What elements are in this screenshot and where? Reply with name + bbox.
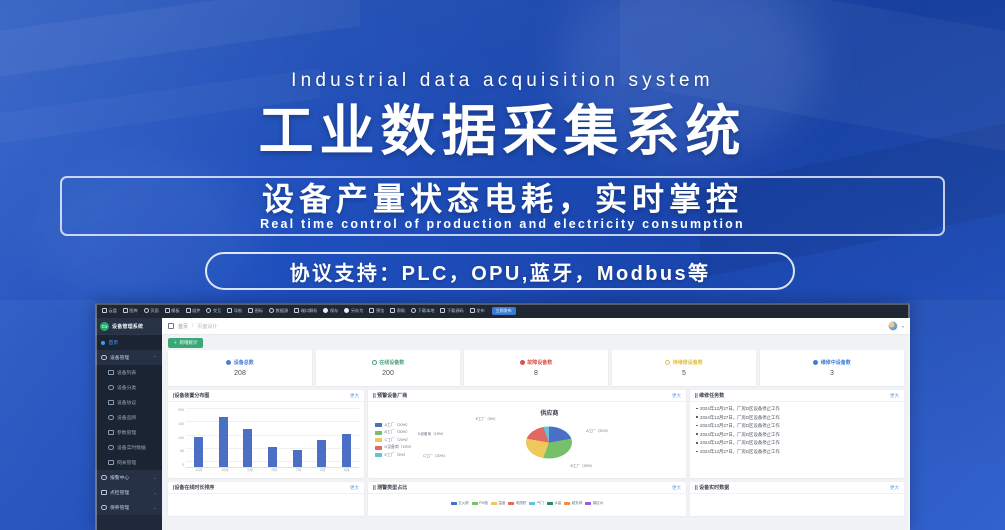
app-toolbar: 云盘图库页面模板组件交互导航图标数据源端口解析保存另存为预览帮助下载本地下载源码…: [95, 303, 910, 318]
sidebar-logo-label: 设备管理系统: [112, 323, 143, 330]
sidebar-item-1[interactable]: 设备管理⌃: [95, 350, 162, 365]
alarm-legend-item-2[interactable]: 温度: [491, 501, 506, 506]
realtime-icon: [108, 445, 114, 451]
toolbar-item-label: 下载本地: [418, 308, 435, 314]
toolbar-item-label: 图标: [255, 308, 263, 314]
sidebar-item-7[interactable]: 设备实时数据: [95, 440, 162, 455]
plus-icon: ＋: [173, 340, 178, 346]
content-area: 首页 / 页面设计 ▾ ＋ 新增统计 设备总数208在: [162, 318, 910, 530]
stat-card-label: 故障设备数: [527, 359, 552, 366]
toolbar-item-label: 帮助: [397, 308, 405, 314]
legend-label: 气门: [537, 501, 544, 506]
preview-icon: [369, 308, 374, 313]
stat-card-value: 200: [382, 370, 394, 377]
list-item[interactable]: 2024年12月27日，厂房D区设备停止工作: [700, 449, 899, 455]
alarm-legend-item-7[interactable]: 摄区水: [585, 501, 603, 506]
alarm-legend-item-3[interactable]: 电限积: [508, 501, 526, 506]
toolbar-item-11[interactable]: 另存为: [341, 308, 366, 314]
breadcrumb-bar: 首页 / 页面设计 ▾: [162, 318, 910, 335]
bar-chart-x-tick: 11月: [195, 468, 202, 473]
panel-title: || 预警设备厂商: [373, 392, 407, 399]
template-icon: [165, 308, 170, 313]
bar-chart-x-tick: 8月: [272, 468, 278, 473]
alarm-legend-item-1[interactable]: PM值: [472, 501, 488, 506]
panel-online-duration: |设备在线时长排序 更大: [168, 482, 364, 516]
subtitle-chinese: 设备产量状态电耗，实时掌控: [62, 180, 943, 219]
logo-mark-icon: Cv: [100, 322, 109, 331]
legend-label: B工厂（30%）: [385, 430, 410, 435]
toolbar-item-0[interactable]: 云盘: [99, 308, 120, 314]
panel-row-top: |设备装置分布图 更大 200150100500: [168, 390, 904, 478]
breadcrumb-current: 页面设计: [197, 323, 217, 330]
sidebar-logo: Cv 设备管理系统: [95, 318, 162, 335]
legend-label: 水量: [554, 501, 561, 506]
sidebar-item-9[interactable]: 报警中心⌄: [95, 470, 162, 485]
sidebar-item-10[interactable]: 点检管理⌄: [95, 485, 162, 500]
stat-card-1[interactable]: 在线设备数200: [316, 350, 460, 386]
bar-chart-x-tick: 9月: [247, 468, 253, 473]
bar-chart: 200150100500 11月10月9月8月7月4月5月: [173, 406, 359, 474]
bar-chart-x-tick: 10月: [221, 468, 229, 473]
sidebar-item-4[interactable]: 设备协议: [95, 395, 162, 410]
legend-swatch: [375, 438, 382, 442]
code-icon: [440, 308, 445, 313]
sidebar-item-6[interactable]: 参数管理: [95, 425, 162, 440]
toolbar-item-label: 交互: [213, 308, 221, 314]
legend-label: 温度: [498, 501, 505, 506]
toolbar-item-5[interactable]: 交互: [203, 308, 224, 314]
sidebar-item-label: 参数管理: [117, 429, 136, 436]
stat-card-header: 故障设备数: [520, 359, 553, 366]
panel-body: [690, 494, 904, 516]
panel-body: [168, 494, 364, 516]
inspect-icon: [101, 490, 107, 496]
stat-card-label: 待维修设备数: [673, 359, 703, 366]
breadcrumb-separator: /: [192, 323, 193, 329]
toolbar-item-15[interactable]: 下载源码: [437, 308, 466, 314]
bar-chart-plot: 11月10月9月8月7月4月5月: [186, 406, 359, 474]
database-icon: [269, 308, 274, 313]
toolbar-item-label: 另存为: [351, 308, 364, 314]
interaction-icon: [206, 308, 211, 313]
sidebar-item-3[interactable]: 设备分类: [95, 380, 162, 395]
sidebar-item-5[interactable]: 设备品牌: [95, 410, 162, 425]
breadcrumb-home[interactable]: 首页: [178, 323, 188, 330]
app-body: Cv 设备管理系统 首页设备管理⌃设备列表设备分类设备协议设备品牌参数管理设备实…: [95, 318, 910, 530]
legend-swatch: [564, 502, 570, 505]
sidebar-item-label: 网关管理: [117, 459, 136, 466]
sidebar-item-label: 设备列表: [117, 369, 136, 376]
legend-label: D设备商（15%）: [385, 445, 414, 450]
chevron-icon: ⌃: [154, 355, 157, 360]
toolbar-item-label: 云盘: [109, 308, 117, 314]
sidebar-item-label: 点检管理: [110, 489, 129, 496]
toolbar-item-label: 图库: [129, 308, 137, 314]
panel-row-bottom: |设备在线时长排序 更大 || 测警类型占比 更大 交火报PM值温度: [168, 482, 904, 516]
dashboard-scroll[interactable]: 设备总数208在线设备数200故障设备数8待维修设备数5维修中设备数3 |设备装…: [162, 350, 910, 530]
poster-stage: Industrial data acquisition system 工业数据采…: [0, 0, 1005, 530]
panel-title: || 设备实时数据: [695, 484, 729, 491]
list-item[interactable]: 2024年12月27日，厂房D区设备停止工作: [700, 440, 899, 446]
toolbar-item-label: 导航: [234, 308, 242, 314]
bar-chart-x-tick: 4月: [320, 468, 326, 473]
legend-label: 交火报: [458, 501, 469, 506]
panel-header: |设备在线时长排序 更大: [168, 482, 364, 494]
toolbar-item-10[interactable]: 保存: [320, 308, 341, 314]
alarm-legend-item-4[interactable]: 气门: [529, 501, 544, 506]
bar-8月[interactable]: [268, 447, 277, 467]
category-icon: [108, 385, 114, 391]
panel-title: |设备在线时长排序: [173, 484, 214, 491]
hero-block: Industrial data acquisition system 工业数据采…: [0, 0, 1005, 163]
bar-chart-y-tick: 150: [178, 422, 184, 426]
pie-chart: A工厂（20%）B工厂（30%）C工厂（20%）D设备商（15%）E工厂（5%）…: [373, 406, 681, 474]
stat-card-value: 8: [534, 370, 538, 377]
publish-icon: [470, 308, 475, 313]
pie-legend-item-1[interactable]: B工厂（30%）: [375, 430, 414, 435]
toolbar-item-label: 组件: [192, 308, 200, 314]
sidebar-nav: 首页设备管理⌃设备列表设备分类设备协议设备品牌参数管理设备实时数据网关管理报警中…: [95, 335, 162, 515]
list-item[interactable]: 2024年12月27日，厂房D区设备停止工作: [700, 415, 899, 421]
toolbar-item-label: 保存: [330, 308, 338, 314]
protocol-banner-text: 协议支持：PLC，OPU,蓝牙，Modbus等: [290, 257, 711, 286]
panel-more-link[interactable]: 更大: [890, 485, 899, 491]
bar-7月[interactable]: [293, 450, 302, 467]
toolbar-item-label: 发布: [476, 308, 484, 314]
settings-icon: [101, 355, 107, 361]
dashboard-screenshot: 云盘图库页面模板组件交互导航图标数据源端口解析保存另存为预览帮助下载本地下载源码…: [95, 303, 910, 530]
panel-header: |设备装置分布图 更大: [168, 390, 364, 402]
sidebar-item-8[interactable]: 网关管理: [95, 455, 162, 470]
bar-chart-y-tick: 100: [178, 436, 184, 440]
toolbar-item-6[interactable]: 导航: [224, 308, 245, 314]
avatar[interactable]: [888, 321, 898, 331]
legend-swatch: [585, 502, 591, 505]
pie-callout-0: A工厂（20%）: [586, 429, 610, 434]
sidebar-item-label: 首页: [109, 339, 119, 346]
legend-swatch: [375, 453, 382, 457]
component-icon: [186, 308, 191, 313]
panel-device-distribution: |设备装置分布图 更大 200150100500: [168, 390, 364, 478]
gear-icon: [813, 360, 818, 365]
panel-body: A工厂（20%）B工厂（30%）C工厂（20%）D设备商（15%）E工厂（5%）…: [368, 402, 686, 478]
legend-swatch: [508, 502, 514, 505]
cloud-icon: [226, 360, 231, 365]
legend-swatch: [529, 502, 535, 505]
panel-body: 200150100500 11月10月9月8月7月4月5月: [168, 402, 364, 478]
cloud-icon: [102, 308, 107, 313]
panel-more-link[interactable]: 更大: [672, 393, 681, 399]
pie-chart-area: 供应商 A工厂（20%）B工厂（30%）C工厂（20%）D设备商（15%）E工厂…: [418, 406, 681, 474]
bar-chart-y-tick: 50: [180, 449, 184, 453]
pie-legend-item-0[interactable]: A工厂（20%）: [375, 423, 414, 428]
publish-now-button[interactable]: 立即发布: [492, 307, 516, 315]
toolbar-item-12[interactable]: 预览: [366, 308, 387, 314]
alarm-legend-item-5[interactable]: 水量: [547, 501, 562, 506]
legend-label: 电限积: [516, 501, 527, 506]
bar-chart-x-tick: 7月: [296, 468, 302, 473]
sidebar: Cv 设备管理系统 首页设备管理⌃设备列表设备分类设备协议设备品牌参数管理设备实…: [95, 318, 162, 530]
pie-callout-4: E工厂（5%）: [476, 417, 498, 422]
stat-card-header: 在线设备数: [372, 359, 405, 366]
stat-card-value: 3: [830, 370, 834, 377]
sidebar-item-label: 报警中心: [110, 474, 129, 481]
stat-card-0[interactable]: 设备总数208: [168, 350, 312, 386]
bar-chart-x-axis: 11月10月9月8月7月4月5月: [186, 467, 359, 474]
gateway-icon: [108, 460, 114, 466]
panel-realtime-data: || 设备实时数据 更大: [690, 482, 904, 516]
sidebar-item-label: 设备协议: [117, 399, 136, 406]
toolbar-item-label: 模板: [171, 308, 179, 314]
panel-title: || 测警类型占比: [373, 484, 407, 491]
legend-label: C工厂（20%）: [385, 438, 411, 443]
legend-swatch: [472, 502, 478, 505]
toolbar-item-8[interactable]: 数据源: [266, 308, 291, 314]
chevron-icon: ⌄: [154, 505, 157, 510]
legend-label: A工厂（20%）: [385, 423, 410, 428]
legend-swatch: [547, 502, 553, 505]
pie-chart-disc: [526, 427, 572, 459]
alarm-legend-item-0[interactable]: 交火报: [451, 501, 469, 506]
legend-swatch: [375, 431, 382, 435]
icon-icon: [248, 308, 253, 313]
panel-supplier-pie: || 预警设备厂商 更大 A工厂（20%）B工厂（30%）C工厂（20%）D设备…: [368, 390, 686, 478]
panel-header: || 设备实时数据 更大: [690, 482, 904, 494]
legend-swatch: [375, 446, 382, 450]
wrench-icon: [665, 360, 670, 365]
bar-chart-y-axis: 200150100500: [173, 406, 186, 474]
list-item[interactable]: 2024年12月27日，厂房D区设备停止工作: [700, 406, 899, 412]
list-item[interactable]: 2024年12月27日，厂房D区设备停止工作: [700, 432, 899, 438]
toolbar-item-7[interactable]: 图标: [245, 308, 266, 314]
bar-9月[interactable]: [243, 429, 252, 467]
bar-chart-y-tick: 200: [178, 408, 184, 412]
chevron-down-icon[interactable]: ▾: [902, 324, 904, 329]
pie-legend-item-3[interactable]: D设备商（15%）: [375, 445, 414, 450]
nav-icon: [227, 308, 232, 313]
hero-chinese-title: 工业数据采集系统: [0, 100, 1005, 163]
params-icon: [108, 430, 114, 436]
list-item[interactable]: 2024年12月27日，厂房D区设备停止工作: [700, 423, 899, 429]
stat-card-label: 在线设备数: [379, 359, 404, 366]
panel-more-link[interactable]: 更大: [890, 393, 899, 399]
port-icon: [294, 308, 299, 313]
panel-title: |设备装置分布图: [173, 392, 209, 399]
alert-icon: [520, 360, 525, 365]
panel-body: 2024年12月27日，厂房D区设备停止工作2024年12月27日，厂房D区设备…: [690, 402, 904, 478]
action-bar: ＋ 新增统计: [162, 335, 910, 350]
stat-card-header: 维修中设备数: [813, 359, 851, 366]
stat-card-header: 设备总数: [226, 359, 254, 366]
legend-label: PM值: [479, 501, 488, 506]
protocol-banner: 协议支持：PLC，OPU,蓝牙，Modbus等: [205, 252, 795, 290]
stat-card-label: 设备总数: [234, 359, 254, 366]
save-as-icon: [344, 308, 349, 313]
legend-label: E工厂（5%）: [385, 453, 408, 458]
bar-10月[interactable]: [219, 417, 228, 467]
panel-more-link[interactable]: 更大: [350, 393, 359, 399]
sidebar-item-label: 保养管理: [110, 504, 129, 511]
sidebar-item-label: 设备实时数据: [117, 444, 146, 451]
subtitle-box: 设备产量状态电耗，实时掌控 Real time control of produ…: [60, 176, 945, 236]
bar-11月[interactable]: [194, 437, 203, 467]
pie-chart-legend: A工厂（20%）B工厂（30%）C工厂（20%）D设备商（15%）E工厂（5%）: [373, 423, 414, 458]
bar-chart-y-tick: 0: [182, 463, 184, 467]
stat-card-3[interactable]: 待维修设备数5: [612, 350, 756, 386]
toolbar-item-2[interactable]: 页面: [141, 308, 162, 314]
stat-card-4[interactable]: 维修中设备数3: [760, 350, 904, 386]
toolbar-item-14[interactable]: 下载本地: [408, 308, 437, 314]
collapse-menu-icon[interactable]: [168, 323, 174, 329]
stat-card-header: 待维修设备数: [665, 359, 703, 366]
brand-icon: [108, 415, 114, 421]
grid-icon: [123, 308, 128, 313]
panel-header: || 测警类型占比 更大: [368, 482, 686, 494]
sidebar-item-label: 设备分类: [117, 384, 136, 391]
pie-legend-item-4[interactable]: E工厂（5%）: [375, 453, 414, 458]
bar-5月[interactable]: [342, 434, 351, 467]
save-icon: [323, 308, 328, 313]
sidebar-item-label: 设备管理: [110, 354, 129, 361]
sidebar-item-11[interactable]: 保养管理⌄: [95, 500, 162, 515]
pie-chart-title: 供应商: [540, 408, 558, 417]
toolbar-item-13[interactable]: 帮助: [387, 308, 408, 314]
stat-card-value: 208: [234, 370, 246, 377]
sidebar-item-2[interactable]: 设备列表: [95, 365, 162, 380]
pie-callout-3: D设备商（15%）: [418, 432, 446, 437]
toolbar-item-label: 预览: [376, 308, 384, 314]
stat-card-label: 维修中设备数: [821, 359, 851, 366]
breadcrumb-right: ▾: [888, 321, 904, 331]
panel-alarm-type-ratio: || 测警类型占比 更大 交火报PM值温度电限积气门水量超负荷摄区水: [368, 482, 686, 516]
pie-legend-item-2[interactable]: C工厂（20%）: [375, 438, 414, 443]
toolbar-item-4[interactable]: 组件: [183, 308, 204, 314]
toolbar-item-1[interactable]: 图库: [120, 308, 141, 314]
legend-swatch: [491, 502, 497, 505]
toolbar-item-16[interactable]: 发布: [467, 308, 488, 314]
legend-label: 摄区水: [593, 501, 604, 506]
add-statistic-button[interactable]: ＋ 新增统计: [168, 338, 203, 348]
stat-card-row: 设备总数208在线设备数200故障设备数8待维修设备数5维修中设备数3: [168, 350, 904, 386]
maintenance-list: 2024年12月27日，厂房D区设备停止工作2024年12月27日，厂房D区设备…: [695, 406, 899, 455]
legend-swatch: [451, 502, 457, 505]
panel-more-link[interactable]: 更大: [350, 485, 359, 491]
toolbar-item-label: 端口解析: [301, 308, 318, 314]
sidebar-item-label: 设备品牌: [117, 414, 136, 421]
panel-header: || 维修任务数 更大: [690, 390, 904, 402]
legend-swatch: [375, 423, 382, 427]
panel-more-link[interactable]: 更大: [672, 485, 681, 491]
toolbar-item-9[interactable]: 端口解析: [291, 308, 320, 314]
stat-card-value: 5: [682, 370, 686, 377]
bar-chart-bars: [186, 408, 359, 467]
toolbar-item-label: 下载源码: [447, 308, 464, 314]
chevron-icon: ⌄: [154, 490, 157, 495]
toolbar-item-label: 页面: [150, 308, 158, 314]
panel-body: 交火报PM值温度电限积气门水量超负荷摄区水: [368, 494, 686, 516]
legend-label: 超负荷: [572, 501, 583, 506]
panel-header: || 预警设备厂商 更大: [368, 390, 686, 402]
pie-callout-2: C工厂（20%）: [423, 454, 447, 459]
bar-chart-x-tick: 5月: [344, 468, 350, 473]
toolbar-item-3[interactable]: 模板: [162, 308, 183, 314]
bar-4月[interactable]: [317, 440, 326, 467]
subtitle-english: Real time control of production and elec…: [62, 217, 943, 231]
add-statistic-label: 新增统计: [180, 340, 198, 346]
alarm-legend-item-6[interactable]: 超负荷: [564, 501, 582, 506]
stat-card-2[interactable]: 故障设备数8: [464, 350, 608, 386]
home-icon: [101, 341, 105, 345]
sidebar-item-0[interactable]: 首页: [95, 335, 162, 350]
panel-maintenance-tasks: || 维修任务数 更大 2024年12月27日，厂房D区设备停止工作2024年1…: [690, 390, 904, 478]
panel-title: || 维修任务数: [695, 392, 724, 399]
pie-callout-1: B工厂（30%）: [570, 464, 594, 469]
toolbar-item-label: 数据源: [276, 308, 289, 314]
alarm-icon: [101, 475, 107, 481]
download-icon: [411, 308, 416, 313]
list-icon: [108, 370, 114, 376]
alarm-legend: 交火报PM值温度电限积气门水量超负荷摄区水: [373, 498, 681, 506]
page-icon: [144, 308, 149, 313]
hero-english-title: Industrial data acquisition system: [0, 70, 1005, 92]
protocol-icon: [108, 400, 114, 406]
user-icon: [372, 360, 377, 365]
chevron-icon: ⌄: [154, 475, 157, 480]
help-icon: [390, 308, 395, 313]
maintain-icon: [101, 505, 107, 511]
